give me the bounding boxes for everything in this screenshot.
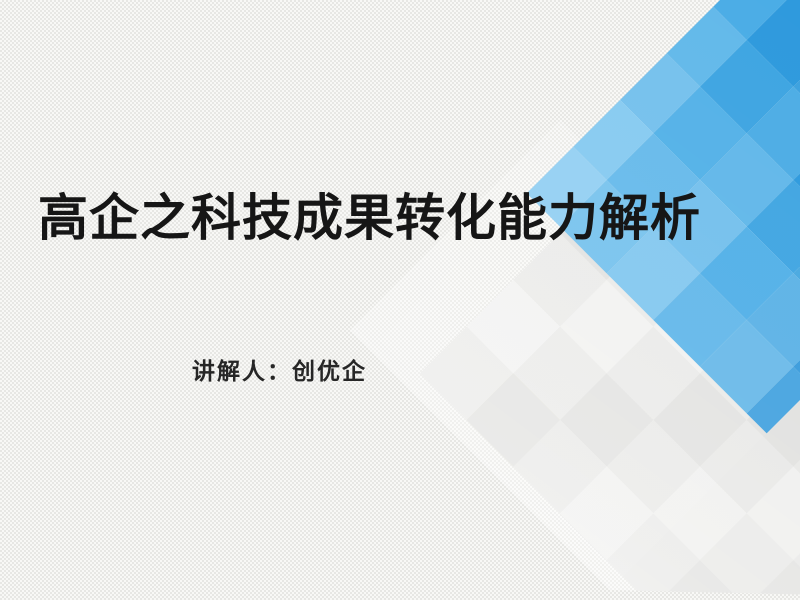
presenter-subtitle: 讲解人：创优企: [192, 355, 367, 387]
slide-canvas: 高企之科技成果转化能力解析 讲解人：创优企: [0, 0, 800, 600]
page-title: 高企之科技成果转化能力解析: [38, 186, 738, 250]
background-texture: [0, 0, 800, 600]
